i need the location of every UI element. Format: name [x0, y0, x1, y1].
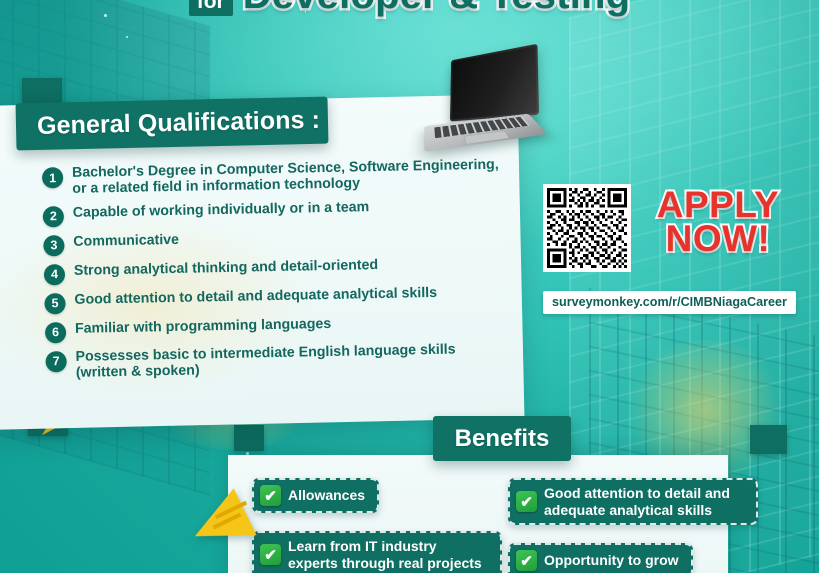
benefit-item: ✔ Good attention to detail and adequate …: [508, 478, 758, 525]
qualifications-heading: General Qualifications :: [16, 97, 329, 151]
list-item: 4 Strong analytical thinking and detail-…: [44, 254, 504, 285]
list-item-text: Familiar with programming languages: [75, 316, 331, 337]
application-url[interactable]: surveymonkey.com/r/CIMBNiagaCareer: [543, 291, 796, 314]
list-item: 5 Good attention to detail and adequate …: [44, 283, 504, 314]
megaphone-icon: [188, 486, 266, 558]
qualifications-list: 1 Bachelor's Degree in Computer Science,…: [42, 158, 506, 389]
qr-code-svg: [547, 188, 627, 268]
sparkle-dot: [104, 14, 107, 17]
benefits-heading-label: Benefits: [455, 425, 550, 453]
list-item: 1 Bachelor's Degree in Computer Science,…: [42, 158, 503, 199]
list-item-text: Possesses basic to intermediate English …: [75, 341, 506, 381]
decor-square-right: [750, 425, 787, 454]
laptop-screen: [450, 44, 539, 122]
list-item-number: 3: [43, 235, 64, 256]
list-item: 7 Possesses basic to intermediate Englis…: [45, 341, 506, 382]
list-item-text: Bachelor's Degree in Computer Science, S…: [72, 158, 503, 198]
list-item-number: 1: [42, 167, 63, 188]
benefit-text: Good attention to detail and adequate an…: [544, 485, 744, 518]
apply-line-2: NOW!: [648, 222, 788, 256]
laptop-icon: [424, 52, 544, 157]
laptop-base: [424, 114, 548, 152]
list-item-number: 5: [44, 293, 65, 314]
apply-line-1: APPLY: [648, 188, 788, 222]
list-item-text: Good attention to detail and adequate an…: [74, 285, 437, 308]
list-item: 2 Capable of working individually or in …: [43, 196, 503, 227]
benefit-item: ✔ Opportunity to grow: [508, 543, 693, 573]
list-item-text: Strong analytical thinking and detail-or…: [74, 257, 379, 279]
benefit-text: Opportunity to grow: [544, 552, 679, 569]
list-item-number: 6: [45, 322, 66, 343]
list-item-text: Capable of working individually or in a …: [73, 199, 370, 221]
benefits-column-right: ✔ Good attention to detail and adequate …: [508, 478, 758, 573]
benefits-column-left: ✔ Allowances ✔ Learn from IT industry ex…: [252, 478, 502, 573]
benefit-text: Learn from IT industry experts through r…: [288, 538, 488, 571]
list-item: 3 Communicative: [43, 225, 503, 256]
apply-now-callout: APPLY NOW!: [648, 188, 788, 256]
sparkle-dot: [126, 36, 128, 38]
qr-code-icon[interactable]: [543, 184, 631, 272]
check-icon: ✔: [516, 550, 537, 571]
list-item-number: 2: [43, 206, 64, 227]
list-item: 6 Familiar with programming languages: [45, 312, 505, 343]
benefits-heading: Benefits: [433, 416, 571, 461]
benefit-item: ✔ Allowances: [252, 478, 379, 513]
list-item-text: Communicative: [73, 232, 179, 250]
decor-square-bottom-left: [234, 425, 264, 451]
recruitment-poster: for Developer & Testing General Qualific…: [0, 0, 819, 573]
qualifications-heading-label: General Qualifications :: [16, 106, 321, 142]
list-item-number: 4: [44, 264, 65, 285]
benefit-item: ✔ Learn from IT industry experts through…: [252, 531, 502, 573]
list-item-number: 7: [45, 351, 66, 372]
check-icon: ✔: [516, 491, 537, 512]
benefit-text: Allowances: [288, 487, 365, 504]
